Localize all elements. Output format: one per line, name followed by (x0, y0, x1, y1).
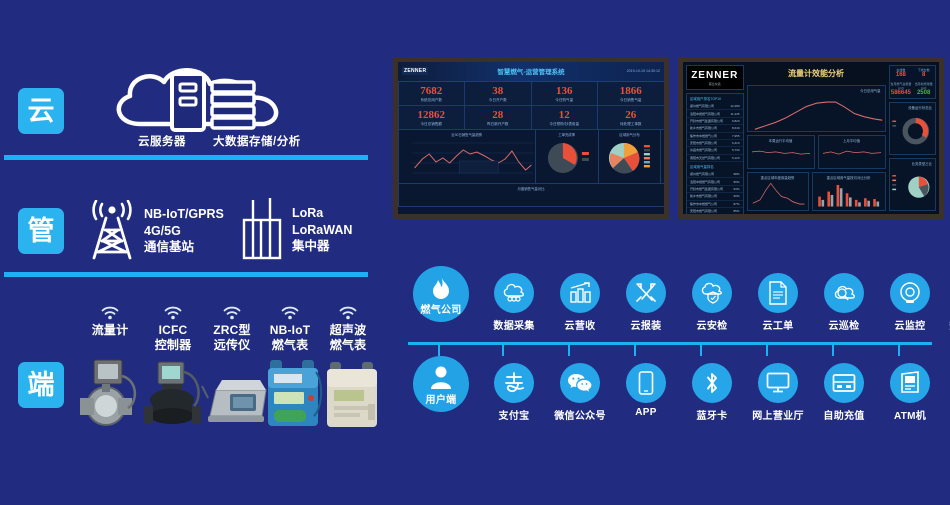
tier-badge-pipe: 管 (18, 208, 64, 254)
list-item: 郑州燃气有限公司 12,480 (687, 103, 743, 110)
device-label: NB-IoT 燃气表 (258, 323, 322, 353)
dashboard-screen-operations: ZENNER 智慧燃气-运营管理系统 2019-10-19 14:30:12 7… (398, 62, 664, 214)
chart-line-week-avg: 本周运行平均值 (747, 135, 815, 169)
zenner-sublogo: 真兰仪表 (687, 82, 743, 89)
hub-customer[interactable]: 用户端 (410, 356, 472, 412)
hub-label: 用户端 (426, 391, 457, 406)
kpi-card: 12 今日预购/抄表用量 (531, 105, 599, 130)
stat-card: 当月新增用量(m³) 2508 (912, 80, 935, 98)
list-item: 开封市燃气集团有限公司 93% (687, 186, 743, 193)
service-label: 云巡检 (812, 317, 876, 332)
tier-badge-end-label: 端 (28, 372, 55, 399)
dashboard-monitor-analytics[interactable]: ZENNER 真兰仪表 区域用户排名TOP10 郑州燃气有限公司 12,480 … (678, 57, 944, 219)
channel-label: ATM机 (878, 407, 942, 422)
connector-drop (700, 342, 702, 356)
chart-line-region-trend: 重点区域年度用量趋势 (747, 172, 809, 211)
user-icon (429, 365, 453, 391)
connector-drop (634, 342, 636, 356)
channel-node-pos[interactable]: POS机 (938, 363, 950, 422)
camera-icon[interactable] (890, 273, 930, 313)
kpi-card: 38 今日开户数 (464, 81, 532, 106)
dashboard2-left-column: ZENNER 真兰仪表 区域用户排名TOP10 郑州燃气有限公司 12,480 … (686, 65, 744, 211)
line-chart-svg (748, 180, 808, 207)
tier-badge-cloud: 云 (18, 88, 64, 134)
zenner-logo: ZENNER (402, 67, 428, 75)
dashboard1-title: 智慧燃气-运营管理系统 (497, 66, 564, 76)
service-node-cloud-workorder[interactable]: 云工单 (746, 273, 810, 332)
channel-node-self-recharge[interactable]: 自助充值 (812, 363, 876, 422)
diagram-root: 云 云服务器 大数据存储/分析 管 (0, 0, 950, 505)
list-item: 许昌市燃气有限公司 5,730 (687, 147, 743, 154)
list-item: 焦作市中燃燃气公司 87% (687, 201, 743, 208)
ranking-panel-users: 区域用户排名TOP10 郑州燃气有限公司 12,480 洛阳中燃燃气有限公司 1… (686, 93, 744, 214)
wifi-icon (163, 305, 183, 320)
service-label: 数据采集 (482, 317, 546, 332)
customer-circle[interactable]: 用户端 (413, 356, 469, 412)
wifi-icon (222, 305, 242, 320)
hub-gas-company[interactable]: 燃气公司 (410, 266, 472, 322)
service-label: 云监控 (878, 317, 942, 332)
chart-bar-region-monthly: 重点区域用气量按月对比分析 (812, 172, 886, 211)
service-label: 云安检 (680, 317, 744, 332)
cloud-server-label: 云服务器 (138, 133, 186, 149)
tier-badge-end: 端 (18, 362, 64, 408)
tier-badge-pipe-label: 管 (28, 218, 55, 245)
dashboard2-bottom-charts: 重点区域年度用量趋势 重点区域用气量按月对比分析 (747, 172, 886, 211)
pipe-item-concentrator: LoRa LoRaWAN 集中器 (240, 198, 352, 262)
architecture-tiers: 云 云服务器 大数据存储/分析 管 (0, 0, 390, 505)
alipay-icon[interactable] (494, 363, 534, 403)
pie-chart-svg (599, 137, 661, 179)
connector-drop (766, 342, 768, 356)
atm-icon[interactable] (890, 363, 930, 403)
icfc-controller-photo (136, 360, 210, 430)
device-ultrasonic-gas-meter: 超声波 燃气表 (316, 305, 380, 353)
channel-label: 网上营业厅 (746, 407, 810, 422)
dashboard2-body: ZENNER 真兰仪表 区域用户排名TOP10 郑州燃气有限公司 12,480 … (683, 62, 939, 214)
service-node-cloud-inspection[interactable]: 云安检 (680, 273, 744, 332)
kpi-card: 28 昨日新开户数 (464, 105, 532, 130)
list-item: 安阳市燃气有限公司 85% (687, 208, 743, 214)
chart-line-sales-trend: 近30日销售气量趋势 (398, 129, 536, 184)
service-node-data-collection[interactable]: 数据采集 (482, 273, 546, 332)
device-label: 超声波 燃气表 (316, 323, 380, 353)
brand-panel: ZENNER 真兰仪表 (686, 65, 744, 90)
pie-chart-svg (890, 166, 936, 207)
nbiot-gas-meter-photo (264, 358, 324, 430)
wifi-icon (100, 305, 120, 320)
kpi-card: 1866 今日销售气量 (597, 81, 664, 106)
mobile-phone-icon[interactable] (626, 363, 666, 403)
bluetooth-icon[interactable] (692, 363, 732, 403)
dashboard-screen-analytics: ZENNER 真兰仪表 区域用户排名TOP10 郑州燃气有限公司 12,480 … (683, 62, 939, 214)
device-icfc-controller: ICFC 控制器 (141, 305, 205, 353)
connector-drop (438, 342, 440, 356)
document-icon[interactable] (758, 273, 798, 313)
kpi-card: 12862 今日总销售额 (398, 105, 465, 130)
service-node-cloud-patrol[interactable]: 云巡检 (812, 273, 876, 332)
line-chart-svg (748, 93, 885, 138)
channel-node-bluetooth-card[interactable]: 蓝牙卡 (680, 363, 744, 422)
line-chart-svg (748, 143, 814, 165)
chart-donut-device-status: 设备运行状态比 (889, 102, 937, 155)
list-item: 郑州燃气有限公司 98% (687, 171, 743, 178)
list-item: 洛阳中燃燃气有限公司 95% (687, 178, 743, 185)
pie-chart-svg (536, 137, 598, 179)
tools-icon[interactable] (626, 273, 666, 313)
service-label: 云营收 (548, 317, 612, 332)
connector-drop (898, 342, 900, 356)
database-stack-icon (212, 82, 254, 128)
connector-bus-line (408, 342, 932, 345)
chart-bar-monthly: 月度销售气量对比 (398, 183, 664, 207)
list-item: 洛阳中燃燃气有限公司 11,235 (687, 110, 743, 117)
dashboard1-charts-row: 近30日销售气量趋势 工单完成率 (398, 130, 664, 184)
dashboard1-datetime: 2019-10-19 14:30:12 (627, 69, 660, 73)
service-node-cloud-installation[interactable]: 云报装 (614, 273, 678, 332)
list-item: 新乡市燃气有限公司 8,640 (687, 125, 743, 132)
device-label: 流量计 (78, 323, 142, 338)
channel-node-app[interactable]: APP (614, 363, 678, 418)
desktop-monitor-icon[interactable] (758, 363, 798, 403)
revenue-chart-icon[interactable] (560, 273, 600, 313)
kiosk-icon[interactable] (824, 363, 864, 403)
device-flow-meter: 流量计 (78, 305, 142, 338)
wifi-icon (280, 305, 300, 320)
channel-label: APP (614, 407, 678, 418)
chart-line-month-avg: 上月平均值 (818, 135, 886, 169)
channel-label: 微信公众号 (548, 407, 612, 422)
dashboard1-kpi-grid: 7682 系统总用户数 38 今日开户数 136 今日购气量 1866 今日销售… (398, 82, 664, 130)
dashboard2-title: 流量计效能分析 (747, 65, 886, 82)
chart-pie-region: 区域用气分布 (598, 129, 662, 184)
cloud-data-icon[interactable] (494, 273, 534, 313)
zrc-telemetry-photo (200, 372, 272, 428)
chart-pie-business-type: 业务类型占比 (889, 158, 937, 211)
list-item: 开封市燃气集团有限公司 9,820 (687, 118, 743, 125)
flame-icon (430, 275, 452, 301)
device-zrc-telemetry: ZRC型 远传仪 (200, 305, 264, 353)
basestation-text: NB-IoT/GPRS 4G/5G 通信基站 (144, 206, 224, 257)
connector-drop (568, 342, 570, 356)
hub-label: 燃气公司 (420, 301, 461, 316)
bigdata-storage-label: 大数据存储/分析 (213, 133, 301, 149)
service-label: 云报装 (614, 317, 678, 332)
donut-chart-svg (890, 110, 936, 151)
concentrator-icon (240, 198, 284, 262)
kpi-card: 136 今日购气量 (531, 81, 599, 106)
service-node-data-analysis[interactable]: 数据分析 (938, 273, 950, 332)
cloud-infrastructure-art (100, 62, 330, 142)
channel-label: 自助充值 (812, 407, 876, 422)
divider-cloud (4, 155, 368, 160)
list-item: 南阳市天然气有限公司 5,120 (687, 155, 743, 162)
wechat-icon[interactable] (560, 363, 600, 403)
list-item: 新乡市燃气有限公司 90% (687, 193, 743, 200)
stat-card: 在线数 168 (890, 66, 913, 80)
kpi-card: 7682 系统总用户数 (398, 81, 465, 106)
gas-company-circle[interactable]: 燃气公司 (413, 266, 469, 322)
device-label: ZRC型 远传仪 (200, 323, 264, 353)
channel-node-alipay[interactable]: 支付宝 (482, 363, 546, 422)
wifi-icon (338, 305, 358, 320)
channel-label: 蓝牙卡 (680, 407, 744, 422)
tier-badge-cloud-label: 云 (28, 98, 55, 125)
dashboard2-center-column: 流量计效能分析 今日总用气量 本周运行平均值 (747, 65, 886, 211)
zenner-logo: ZENNER (687, 66, 743, 82)
platform-panel: ZENNER 智慧燃气-运营管理系统 2019-10-19 14:30:12 7… (390, 0, 950, 505)
stat-card: 当月燃气总用量(m³) 586645 (890, 80, 913, 98)
service-node-cloud-monitoring[interactable]: 云监控 (878, 273, 942, 332)
channel-label: 支付宝 (482, 407, 546, 422)
kpi-card: 26 待处理工单数 (597, 105, 664, 130)
service-label: 数据分析 (938, 317, 950, 332)
cell-tower-icon (88, 200, 136, 262)
chart-line-annual-usage: 今日总用气量 (747, 85, 886, 132)
device-nbiot-gas-meter: NB-IoT 燃气表 (258, 305, 322, 353)
dashboard-monitor-operations[interactable]: ZENNER 智慧燃气-运营管理系统 2019-10-19 14:30:12 7… (393, 57, 669, 219)
service-label: 云工单 (746, 317, 810, 332)
stat-card: 下线台数 8 (912, 66, 935, 80)
bar-chart-svg (813, 180, 885, 207)
channel-label: POS机 (938, 407, 950, 422)
device-label: ICFC 控制器 (141, 323, 205, 353)
channel-node-atm[interactable]: ATM机 (878, 363, 942, 422)
stats-panel: 在线数 168 下线台数 8 当月燃气总用量(m³) 586645 当月新增用量… (889, 65, 937, 99)
cloud-shield-icon[interactable] (692, 273, 732, 313)
list-item: 焦作市中燃燃气公司 7,955 (687, 133, 743, 140)
connector-drop (502, 342, 504, 356)
channel-node-online-hall[interactable]: 网上营业厅 (746, 363, 810, 422)
dashboard2-right-column: 在线数 168 下线台数 8 当月燃气总用量(m³) 586645 当月新增用量… (889, 65, 937, 211)
list-item: 安阳市燃气有限公司 6,410 (687, 140, 743, 147)
divider-pipe (4, 272, 368, 277)
concentrator-text: LoRa LoRaWAN 集中器 (292, 205, 352, 256)
dashboard1-header: ZENNER 智慧燃气-运营管理系统 2019-10-19 14:30:12 (398, 62, 664, 82)
line-chart-svg (399, 137, 535, 179)
pipe-item-basestation: NB-IoT/GPRS 4G/5G 通信基站 (88, 200, 224, 262)
ultrasonic-gas-meter-photo (324, 360, 382, 430)
cloud-search-icon[interactable] (824, 273, 864, 313)
service-node-cloud-revenue[interactable]: 云营收 (548, 273, 612, 332)
line-chart-svg (819, 143, 885, 165)
chart-pie-workorder: 工单完成率 (535, 129, 599, 184)
connector-drop (832, 342, 834, 356)
channel-node-wechat[interactable]: 微信公众号 (548, 363, 612, 422)
server-icon (172, 74, 204, 130)
